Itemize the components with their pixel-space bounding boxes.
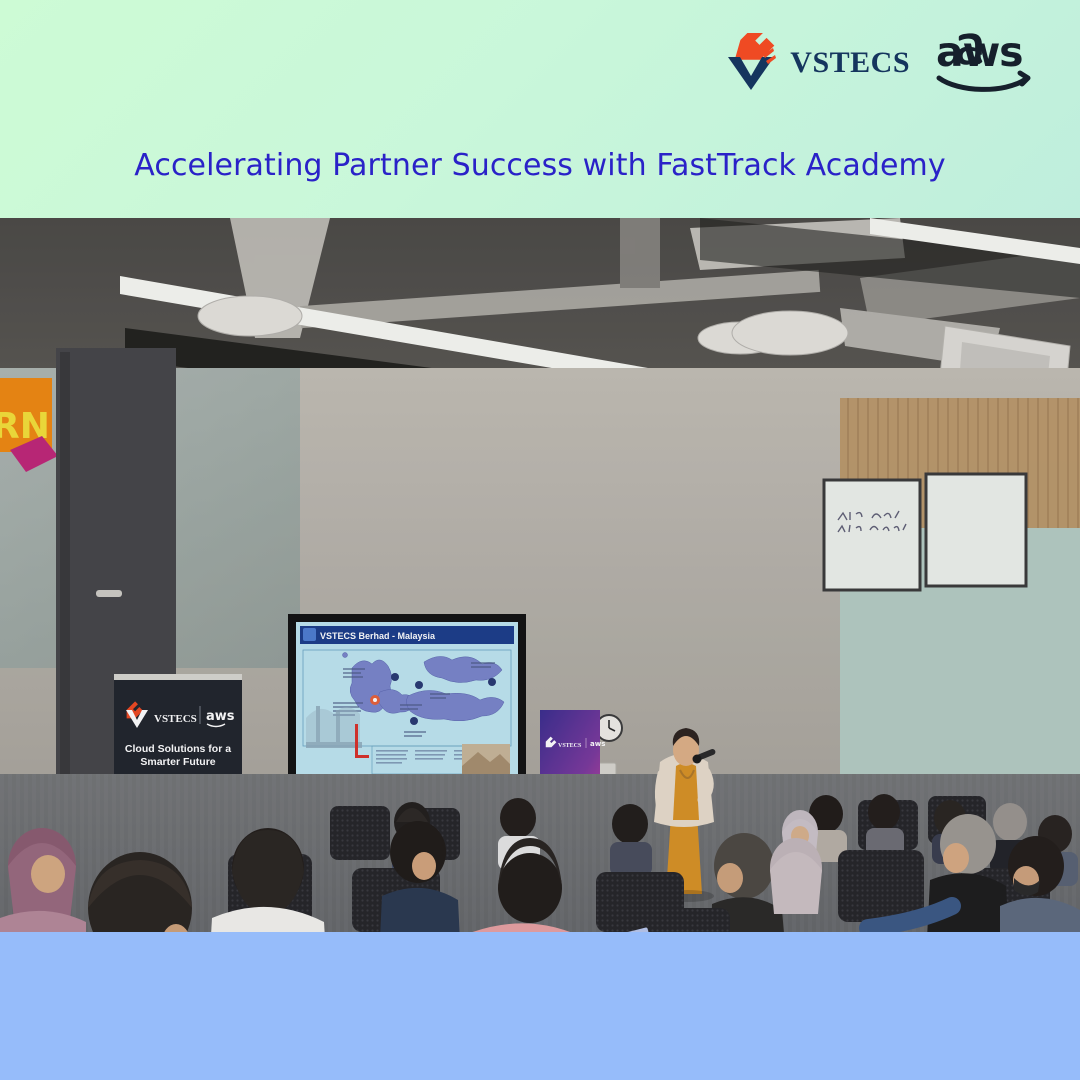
footer-band	[0, 932, 1080, 1080]
vstecs-mark-icon	[722, 33, 780, 93]
header-band: VSTECS aws Accelerating Partner Success …	[0, 0, 1080, 218]
aws-logo-icon: aws	[936, 32, 1036, 94]
vstecs-wordmark: VSTECS	[790, 46, 910, 80]
event-photo-illustration: RN	[0, 218, 1080, 932]
logo-bar: VSTECS aws	[722, 32, 1036, 94]
page-title: Accelerating Partner Success with FastTr…	[0, 148, 1080, 183]
vstecs-logo: VSTECS	[722, 33, 910, 93]
svg-text:aws: aws	[936, 32, 1022, 76]
slide-canvas: VSTECS aws Accelerating Partner Success …	[0, 0, 1080, 1080]
event-photo: RN	[0, 218, 1080, 932]
